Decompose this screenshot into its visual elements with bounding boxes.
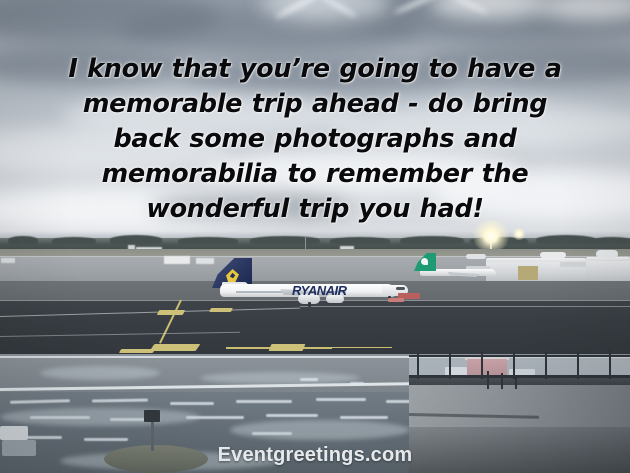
quote-line-5: wonderful trip you had! — [0, 192, 630, 227]
ground-vehicle — [0, 426, 28, 440]
shamrock-icon — [421, 258, 428, 265]
rail-glass-panel — [409, 357, 630, 375]
livery-text: RYANAIR — [292, 285, 384, 297]
rail-post — [609, 350, 611, 379]
apron-marking — [350, 382, 364, 385]
tree-clump — [400, 236, 464, 244]
tree-clump — [536, 235, 596, 244]
taxi-marking — [157, 310, 185, 315]
rail-post — [577, 351, 579, 379]
tree-clump — [52, 237, 96, 244]
parked-aircraft-far — [596, 250, 618, 258]
apron-hut — [1, 258, 15, 263]
ground-vehicle — [388, 298, 404, 302]
greeting-image: RYANAIR — [0, 0, 630, 473]
terminal-window — [518, 266, 538, 280]
apron-hut — [164, 256, 190, 264]
rail-post — [515, 375, 517, 389]
taxi-marking — [119, 349, 155, 353]
quote-line-1: I know that you’re going to have a — [0, 52, 630, 87]
quote-line-4: memorabilia to remember the — [0, 157, 630, 192]
apron-marking — [300, 378, 318, 381]
tree-clump — [110, 235, 162, 244]
apron-marking — [170, 402, 214, 405]
taxi-guideline — [332, 347, 392, 348]
cockpit-window — [396, 287, 405, 290]
quote-line-2: memorable trip ahead - do bring — [0, 87, 630, 122]
apron-marking — [236, 400, 292, 403]
light-glare-small — [512, 228, 526, 240]
aircraft-aer-lingus — [404, 253, 500, 285]
apron-marking — [84, 438, 128, 441]
aircraft-ryanair: RYANAIR — [196, 256, 414, 308]
taxi-marking — [269, 344, 306, 351]
handrail — [409, 375, 630, 378]
apron-marking — [266, 414, 318, 417]
parked-aircraft-far — [540, 252, 566, 258]
tree-clump — [592, 237, 630, 244]
tree-clump — [178, 237, 238, 244]
tree-clump — [8, 236, 38, 244]
rail-post — [545, 351, 547, 379]
taxi-marking — [209, 308, 233, 312]
apron-marking — [316, 398, 366, 401]
rail-post — [481, 352, 483, 379]
watermark: Eventgreetings.com — [0, 444, 630, 467]
quote-line-3: back some photographs and — [0, 122, 630, 157]
apron-marking — [340, 416, 388, 419]
puddle — [40, 366, 160, 380]
taxi-marking — [150, 344, 201, 351]
quote-text: I know that you’re going to have a memor… — [0, 52, 630, 227]
tree-clump — [330, 237, 390, 244]
tree-clump — [250, 236, 320, 244]
puddle — [200, 372, 360, 384]
rail-post — [501, 373, 503, 389]
rail-post — [449, 353, 451, 379]
rail-post — [487, 371, 489, 389]
rail-post — [417, 353, 419, 379]
puddle — [230, 420, 410, 440]
puddle — [0, 408, 200, 426]
sign-panel — [144, 410, 160, 422]
landing-gear — [308, 302, 311, 307]
